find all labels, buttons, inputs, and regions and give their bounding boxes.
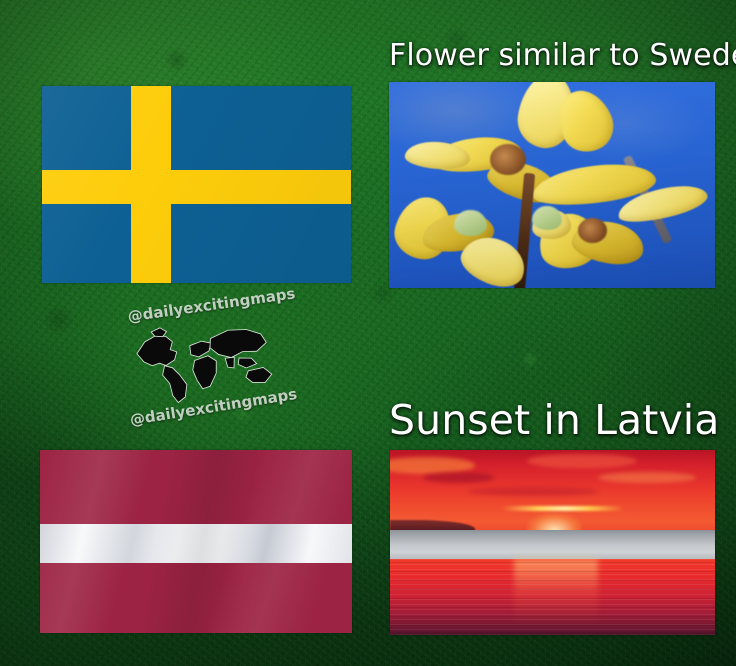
forsythia-flower-photo [389,82,715,288]
sunset-water-ripples [390,559,715,635]
flag-of-latvia [40,450,352,633]
latvia-sunset-photo [390,450,715,635]
flag-of-sweden [42,86,351,283]
meme-canvas: Flower similar to Sweden @dailyexcitingm… [0,0,736,666]
flower-photo-softness [389,82,715,288]
caption-sunset-in-latvia: Sunset in Latvia [389,396,720,444]
sweden-flag-sheen [42,86,351,283]
sunset-horizon-band [390,530,715,560]
caption-flower-similar-to-sweden: Flower similar to Sweden [389,38,736,74]
latvia-stripe-shading [40,524,352,562]
sunset-light-streak [501,506,625,511]
watermark: @dailyexcitingmaps [110,292,290,432]
